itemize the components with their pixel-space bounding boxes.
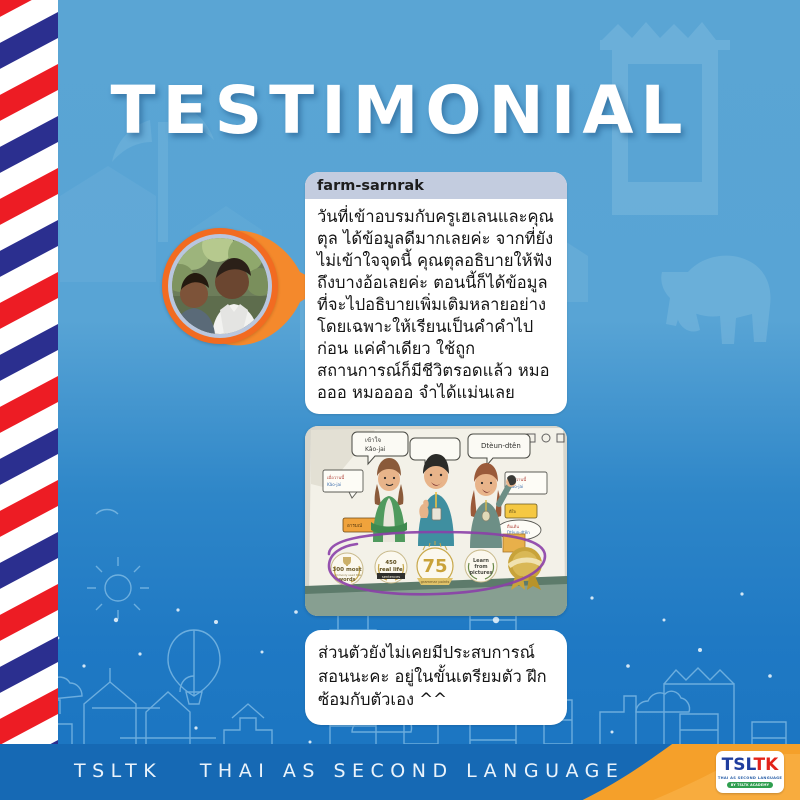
- svg-text:ดีใจ: ดีใจ: [509, 509, 516, 514]
- tsltk-logo: TSLTK THAI AS SECOND LANGUAGE BY TSLTK A…: [716, 751, 784, 793]
- svg-text:grammar points: grammar points: [421, 580, 450, 584]
- shared-lesson-screenshot[interactable]: Find text or tools เข้าใจ Kâo-jai Dtèun-…: [305, 426, 567, 616]
- logo-pill: BY TSLTK ACADEMY: [727, 782, 773, 788]
- logo-tsl: TSL: [722, 755, 754, 775]
- svg-text:pictures: pictures: [469, 570, 492, 576]
- svg-text:450: 450: [385, 560, 397, 566]
- svg-text:อารมณ์: อารมณ์: [347, 522, 363, 529]
- logo-tk: TK: [754, 755, 779, 775]
- message-bubble-secondary: ส่วนตัวยังไม่เคยมีประสบการณ์สอนนะคะ อยู่…: [305, 630, 567, 724]
- svg-text:Dtèun-dtên: Dtèun-dtên: [481, 442, 521, 450]
- banner-tagline: TSLTK THAI AS SECOND LANGUAGE: [74, 760, 624, 782]
- chat-username: farm-sarnrak: [305, 172, 567, 199]
- page-title: TESTIMONIAL: [0, 72, 800, 149]
- avatar-photo: [172, 238, 268, 334]
- bottom-banner: TSLTK THAI AS SECOND LANGUAGE TSLTK THAI…: [0, 744, 800, 800]
- logo-subtitle: THAI AS SECOND LANGUAGE: [718, 776, 782, 780]
- svg-text:sentences: sentences: [382, 575, 400, 579]
- testimonial-poster: TESTIMONIAL: [0, 0, 800, 800]
- svg-text:เข้าใจ: เข้าใจ: [365, 436, 381, 444]
- svg-text:real life: real life: [379, 567, 403, 573]
- svg-text:Kâo-jai: Kâo-jai: [327, 482, 341, 487]
- svg-text:Kâo-jai: Kâo-jai: [365, 446, 386, 453]
- svg-text:ตื่นเต้น: ตื่นเต้น: [507, 524, 520, 529]
- chat-message-text: วันที่เข้าอบรมกับครูเฮเลนและคุณตุล ได้ข้…: [305, 199, 567, 414]
- message-bubble-primary: farm-sarnrak วันที่เข้าอบรมกับครูเฮเลนแล…: [305, 172, 567, 414]
- chat-message-text-2: ส่วนตัวยังไม่เคยมีประสบการณ์สอนนะคะ อยู่…: [305, 630, 567, 724]
- logo-wordmark: TSLTK: [722, 757, 779, 774]
- svg-text:75: 75: [422, 556, 447, 577]
- testimonial-chat-column: farm-sarnrak วันที่เข้าอบรมกับครูเฮเลนแล…: [305, 172, 567, 725]
- svg-text:เมื่อวานนี้: เมื่อวานนี้: [327, 474, 345, 480]
